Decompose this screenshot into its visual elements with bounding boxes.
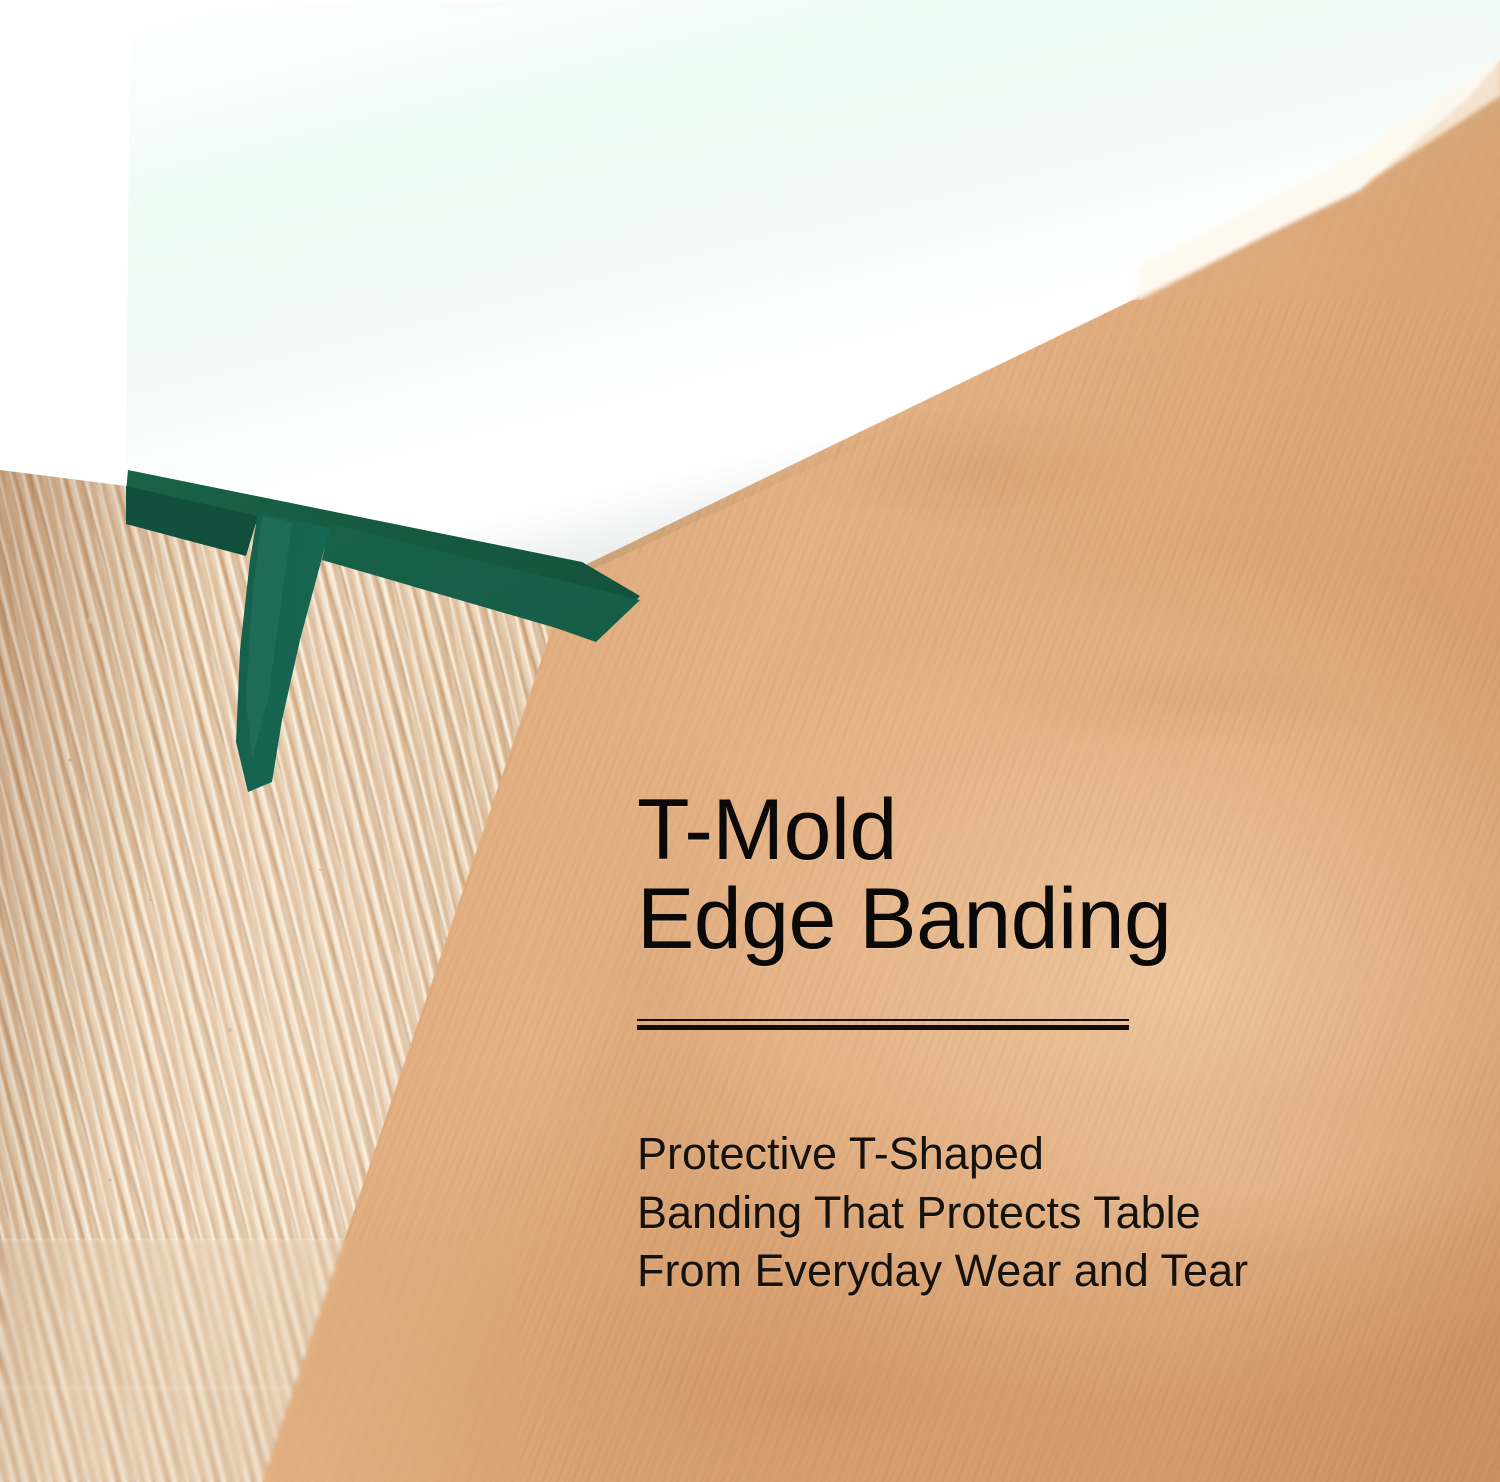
- headline: T-Mold Edge Banding: [637, 786, 1397, 963]
- subcopy: Protective T-Shaped Banding That Protect…: [637, 1031, 1397, 1301]
- marketing-copy-block: T-Mold Edge Banding Protective T-Shaped …: [637, 786, 1397, 1301]
- divider-rule: [637, 1019, 1129, 1031]
- product-feature-image: T-Mold Edge Banding Protective T-Shaped …: [0, 0, 1500, 1482]
